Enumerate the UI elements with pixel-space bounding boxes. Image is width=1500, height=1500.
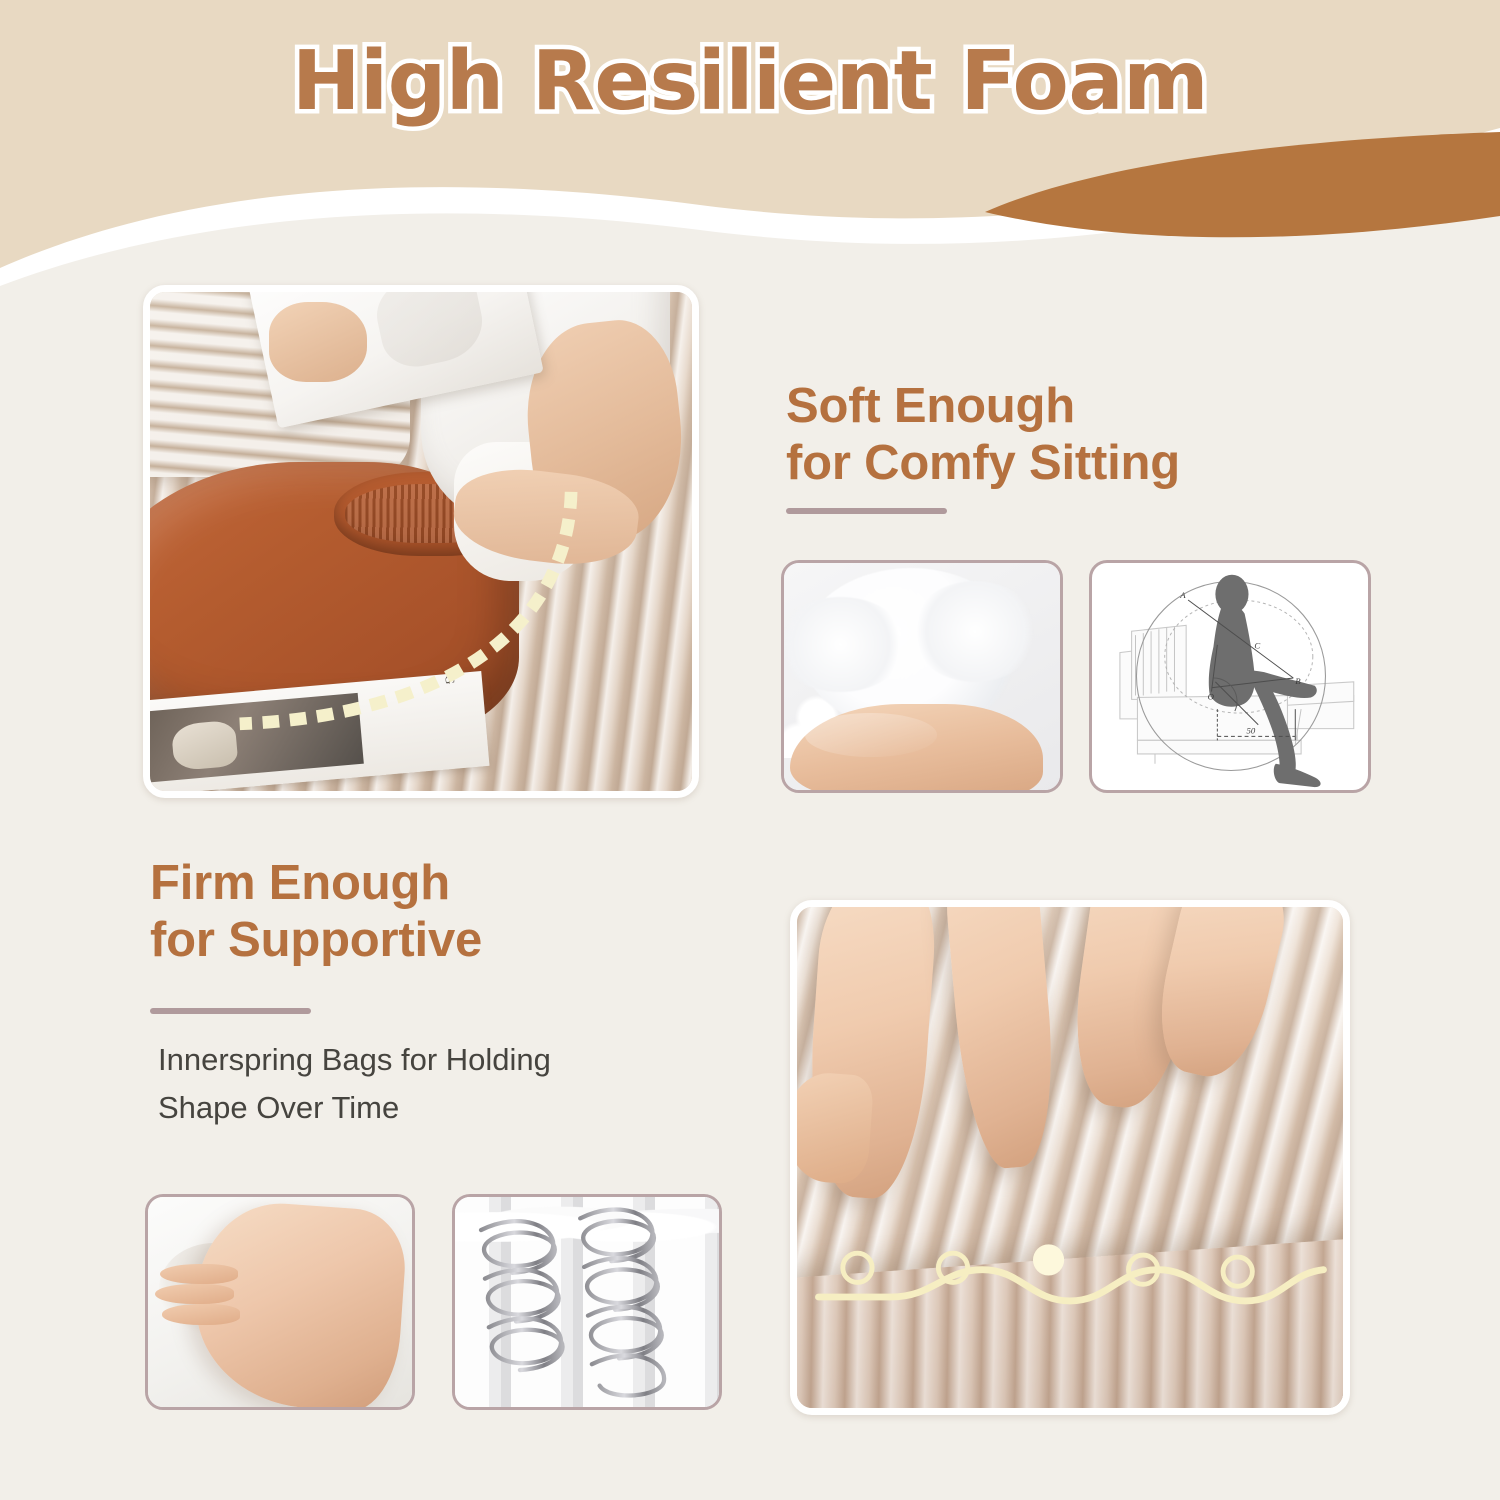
dashed-sink-arc-overlay xyxy=(150,292,692,791)
hand-fingers xyxy=(153,1260,259,1327)
photo-feet-on-cushion xyxy=(790,900,1350,1415)
open-palm xyxy=(790,704,1044,793)
ergo-label-a: A xyxy=(1179,590,1186,600)
wave-dot-5 xyxy=(1223,1257,1252,1286)
page-title: High Resilient Foam xyxy=(0,34,1500,129)
wavy-resilience-overlay xyxy=(797,907,1343,1408)
ergonomic-diagram-svg: A B C O 50 xyxy=(1092,563,1368,790)
inset-ergonomic-seating-diagram: A B C O 50 xyxy=(1089,560,1371,793)
ergo-dimension: 50 xyxy=(1247,725,1256,735)
wave-dot-1 xyxy=(843,1253,872,1282)
rule-soft xyxy=(786,508,947,514)
coil-springs-svg xyxy=(455,1197,719,1407)
headline-firm-enough: Firm Enough for Supportive xyxy=(150,855,710,969)
inset-fiber-fill-in-hand xyxy=(781,560,1063,793)
inset-pocket-coil-springs xyxy=(452,1194,722,1410)
subtext-innerspring: Innerspring Bags for Holding Shape Over … xyxy=(158,1036,738,1132)
ergo-label-o: O xyxy=(1208,691,1215,701)
ergo-label-c: C xyxy=(1254,641,1260,651)
headline-soft-enough: Soft Enough for Comfy Sitting xyxy=(786,378,1346,492)
inset-hand-pressing-foam xyxy=(145,1194,415,1410)
wave-dot-3-filled xyxy=(1033,1244,1064,1275)
rule-firm xyxy=(150,1008,311,1014)
header-band: High Resilient Foam xyxy=(0,0,1500,300)
photo-person-reading: DREAMING xyxy=(143,285,699,798)
ergo-label-b: B xyxy=(1295,676,1301,686)
